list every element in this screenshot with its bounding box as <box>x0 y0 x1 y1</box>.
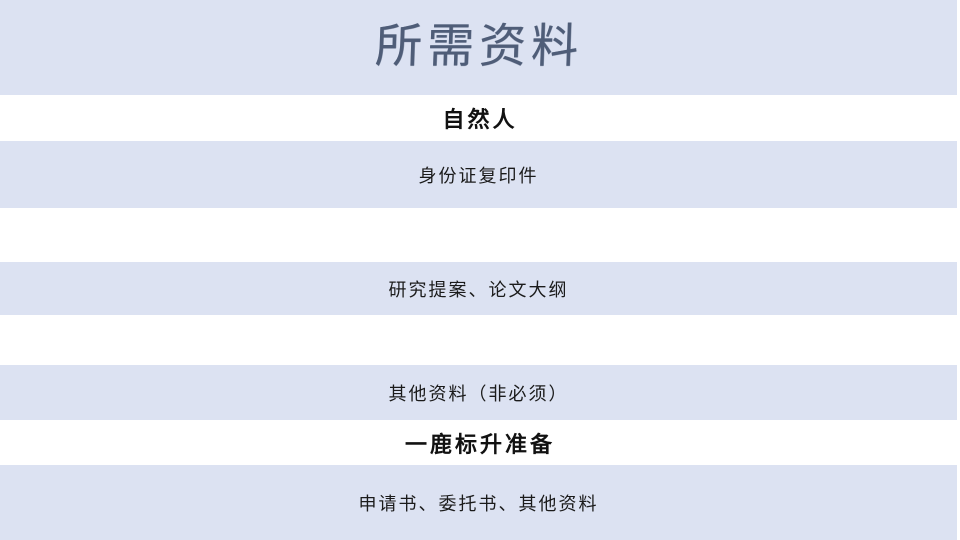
list-item-label: 身份证复印件 <box>419 162 539 188</box>
list-item-id-copy: 身份证复印件 <box>0 141 957 208</box>
title-band: 所需资料 <box>0 0 957 95</box>
list-item-label: 申请书、委托书、其他资料 <box>359 490 599 516</box>
list-item-label: 研究提案、论文大纲 <box>389 276 569 302</box>
slide-canvas: 所需资料 自然人 身份证复印件 研究提案、论文大纲 其他资料（非必须） 一鹿标升… <box>0 0 960 540</box>
list-item-application-documents: 申请书、委托书、其他资料 <box>0 465 957 540</box>
section-heading-row-natural-person: 自然人 <box>0 95 960 141</box>
section-heading-natural-person: 自然人 <box>442 102 517 134</box>
separator-row-one <box>0 208 960 262</box>
list-item-label: 其他资料（非必须） <box>389 380 569 406</box>
section-heading-upgrade-prep: 一鹿标升准备 <box>405 427 555 459</box>
separator-row-two <box>0 315 960 365</box>
list-item-other-optional: 其他资料（非必须） <box>0 365 957 420</box>
section-heading-row-upgrade-prep: 一鹿标升准备 <box>0 420 960 465</box>
list-item-research-proposal: 研究提案、论文大纲 <box>0 262 957 315</box>
page-title: 所需资料 <box>374 23 584 70</box>
